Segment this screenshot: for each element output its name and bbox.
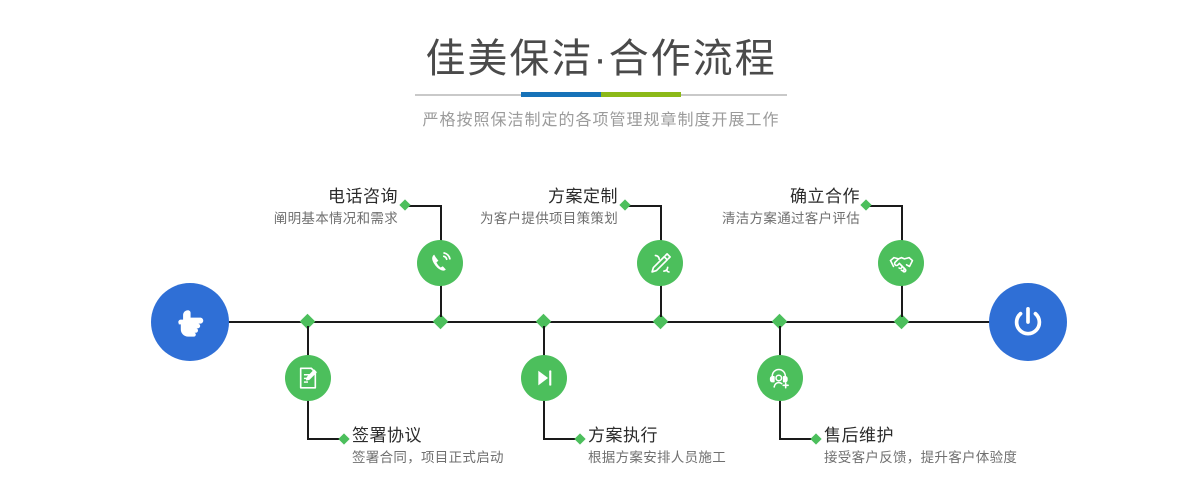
connector-hline-step-4 — [543, 438, 578, 440]
sign-document-icon — [295, 365, 321, 391]
power-icon — [1007, 301, 1049, 343]
header-divider-green — [601, 92, 681, 97]
step-icon-circle-5[interactable] — [878, 240, 924, 286]
step-title-6: 售后维护 — [824, 425, 1164, 446]
step-desc-5: 清洁方案通过客户评估 — [612, 210, 860, 228]
connector-hline-step-6 — [779, 438, 814, 440]
step-icon-circle-3[interactable] — [637, 240, 683, 286]
page-header: 佳美保洁·合作流程 — [0, 0, 1202, 82]
page-subtitle: 严格按照保洁制定的各项管理规章制度开展工作 — [0, 106, 1202, 130]
step-icon-circle-6[interactable] — [757, 355, 803, 401]
header-divider-blue — [521, 92, 601, 97]
step-title-5: 确立合作 — [612, 186, 860, 207]
step-desc-1: 阐明基本情况和需求 — [150, 210, 398, 228]
flow-end-node[interactable] — [989, 283, 1067, 361]
step-label-1: 电话咨询 阐明基本情况和需求 — [150, 186, 398, 228]
pencil-design-icon — [647, 250, 674, 277]
step-desc-6: 接受客户反馈，提升客户体验度 — [824, 449, 1164, 467]
play-skip-icon — [531, 365, 557, 391]
step-label-3: 方案定制 为客户提供项目策策划 — [370, 186, 618, 228]
label-dot-step-5 — [860, 199, 871, 210]
customer-service-icon — [767, 365, 793, 391]
phone-call-icon — [427, 250, 454, 277]
step-title-3: 方案定制 — [370, 186, 618, 207]
connector-hline-step-2 — [307, 438, 342, 440]
step-desc-3: 为客户提供项目策策划 — [370, 210, 618, 228]
step-label-5: 确立合作 清洁方案通过客户评估 — [612, 186, 860, 228]
flow-start-node[interactable] — [151, 283, 229, 361]
pointing-hand-icon — [170, 302, 210, 342]
step-title-1: 电话咨询 — [150, 186, 398, 207]
connector-hline-step-5 — [869, 205, 903, 207]
label-dot-step-2 — [338, 433, 349, 444]
handshake-icon — [888, 250, 915, 277]
step-icon-circle-2[interactable] — [285, 355, 331, 401]
page-title: 佳美保洁·合作流程 — [0, 0, 1202, 82]
step-icon-circle-1[interactable] — [417, 240, 463, 286]
step-label-6: 售后维护 接受客户反馈，提升客户体验度 — [824, 425, 1164, 467]
step-icon-circle-4[interactable] — [521, 355, 567, 401]
